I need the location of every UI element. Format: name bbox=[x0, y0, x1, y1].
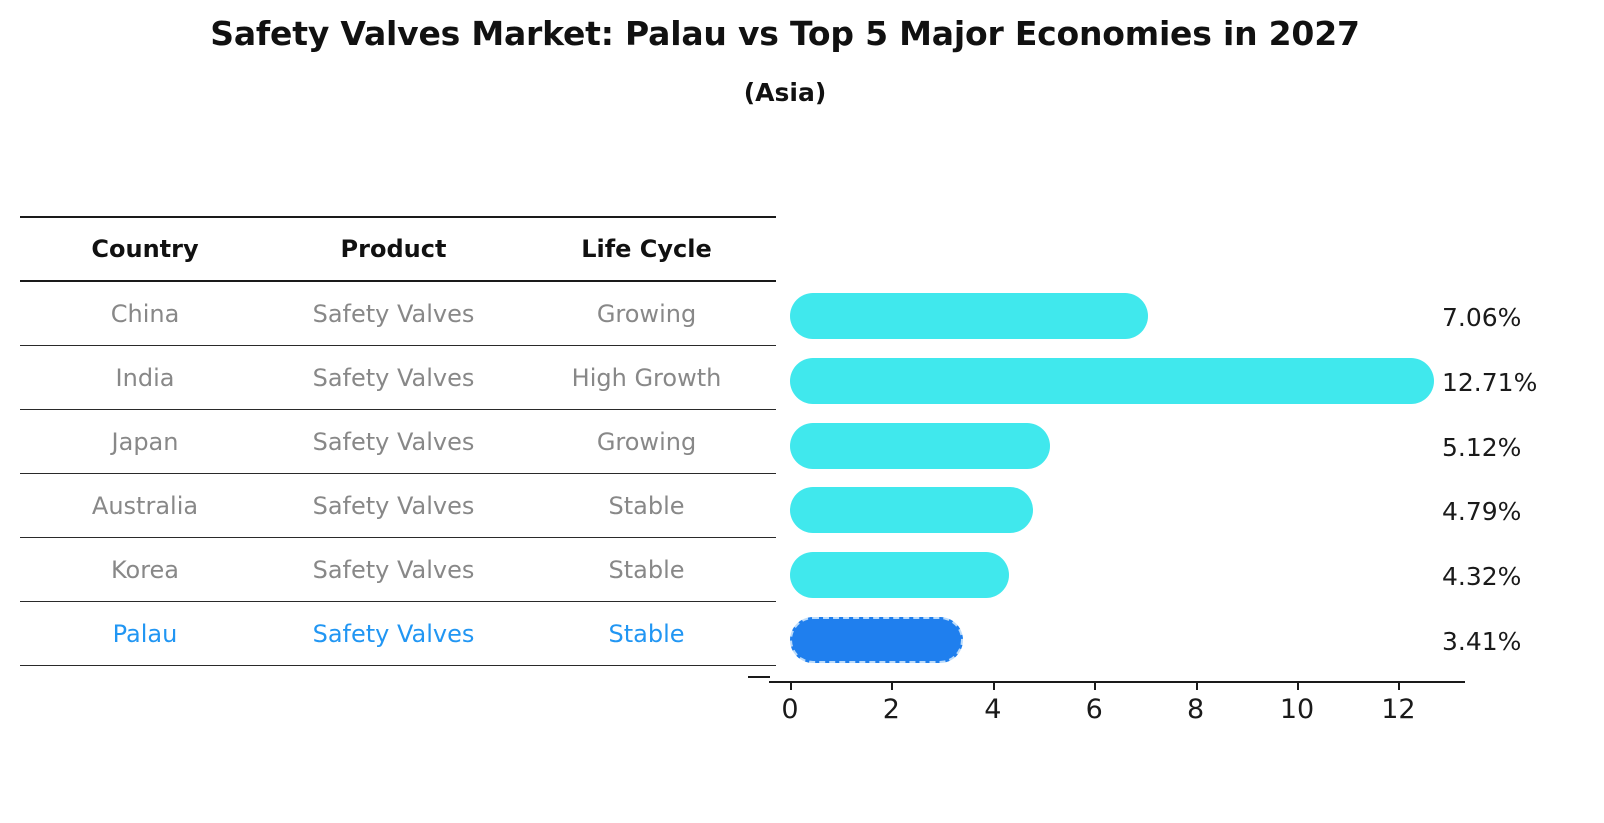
column-header-product: Product bbox=[270, 235, 517, 263]
bar-fill[interactable] bbox=[790, 487, 1033, 533]
bar-fill[interactable] bbox=[790, 423, 1050, 469]
cell-life-cycle: High Growth bbox=[517, 364, 776, 392]
x-axis-tick-label: 12 bbox=[1358, 694, 1438, 725]
cell-country: China bbox=[20, 300, 270, 328]
table-row[interactable]: China Safety Valves Growing bbox=[20, 282, 776, 345]
country-table: Country Product Life Cycle China Safety … bbox=[20, 216, 776, 666]
cell-country: Australia bbox=[20, 492, 270, 520]
x-axis-tick bbox=[1196, 681, 1198, 690]
table-row-highlighted[interactable]: Palau Safety Valves Stable bbox=[20, 602, 776, 665]
cell-product: Safety Valves bbox=[270, 556, 517, 584]
axis-left-stub bbox=[748, 676, 770, 678]
bar-value-label: 4.79% bbox=[1442, 497, 1592, 526]
cell-life-cycle: Stable bbox=[517, 556, 776, 584]
cell-life-cycle: Stable bbox=[517, 492, 776, 520]
cell-product: Safety Valves bbox=[270, 492, 517, 520]
cell-life-cycle: Growing bbox=[517, 428, 776, 456]
column-header-life-cycle: Life Cycle bbox=[517, 235, 776, 263]
table-row[interactable]: Japan Safety Valves Growing bbox=[20, 410, 776, 473]
x-axis-tick bbox=[891, 681, 893, 690]
cell-life-cycle: Stable bbox=[517, 620, 776, 648]
cell-product: Safety Valves bbox=[270, 428, 517, 456]
table-row[interactable]: Australia Safety Valves Stable bbox=[20, 474, 776, 537]
bar-value-label: 12.71% bbox=[1442, 368, 1592, 397]
cell-country: Palau bbox=[20, 620, 270, 648]
cell-country: Japan bbox=[20, 428, 270, 456]
x-axis-tick bbox=[1094, 681, 1096, 690]
table-row[interactable]: Korea Safety Valves Stable bbox=[20, 538, 776, 601]
x-axis-tick bbox=[1297, 681, 1299, 690]
bar-fill[interactable] bbox=[790, 358, 1434, 404]
x-axis-tick bbox=[993, 681, 995, 690]
x-axis-tick-label: 8 bbox=[1156, 694, 1236, 725]
table-row[interactable]: India Safety Valves High Growth bbox=[20, 346, 776, 409]
bar-fill[interactable] bbox=[790, 293, 1148, 339]
table-header-row: Country Product Life Cycle bbox=[20, 218, 776, 280]
x-axis-tick-label: 4 bbox=[953, 694, 1033, 725]
cell-product: Safety Valves bbox=[270, 620, 517, 648]
x-axis-line bbox=[769, 681, 1465, 683]
bar-value-label: 7.06% bbox=[1442, 303, 1592, 332]
x-axis-tick bbox=[1398, 681, 1400, 690]
bar-fill-highlighted[interactable] bbox=[790, 617, 963, 663]
x-axis-tick-label: 6 bbox=[1054, 694, 1134, 725]
bar-value-label: 4.32% bbox=[1442, 562, 1592, 591]
table-bottom-rule bbox=[20, 665, 776, 666]
cell-life-cycle: Growing bbox=[517, 300, 776, 328]
page-subtitle: (Asia) bbox=[0, 78, 1570, 107]
page-title: Safety Valves Market: Palau vs Top 5 Maj… bbox=[0, 14, 1570, 53]
x-axis-tick-label: 0 bbox=[750, 694, 830, 725]
cell-country: Korea bbox=[20, 556, 270, 584]
x-axis-tick-label: 10 bbox=[1257, 694, 1337, 725]
x-axis-tick bbox=[790, 681, 792, 690]
cell-product: Safety Valves bbox=[270, 300, 517, 328]
bar-value-label: 3.41% bbox=[1442, 627, 1592, 656]
bar-value-label: 5.12% bbox=[1442, 433, 1592, 462]
x-axis-tick-label: 2 bbox=[851, 694, 931, 725]
cell-country: India bbox=[20, 364, 270, 392]
column-header-country: Country bbox=[20, 235, 270, 263]
cell-product: Safety Valves bbox=[270, 364, 517, 392]
bar-fill[interactable] bbox=[790, 552, 1009, 598]
